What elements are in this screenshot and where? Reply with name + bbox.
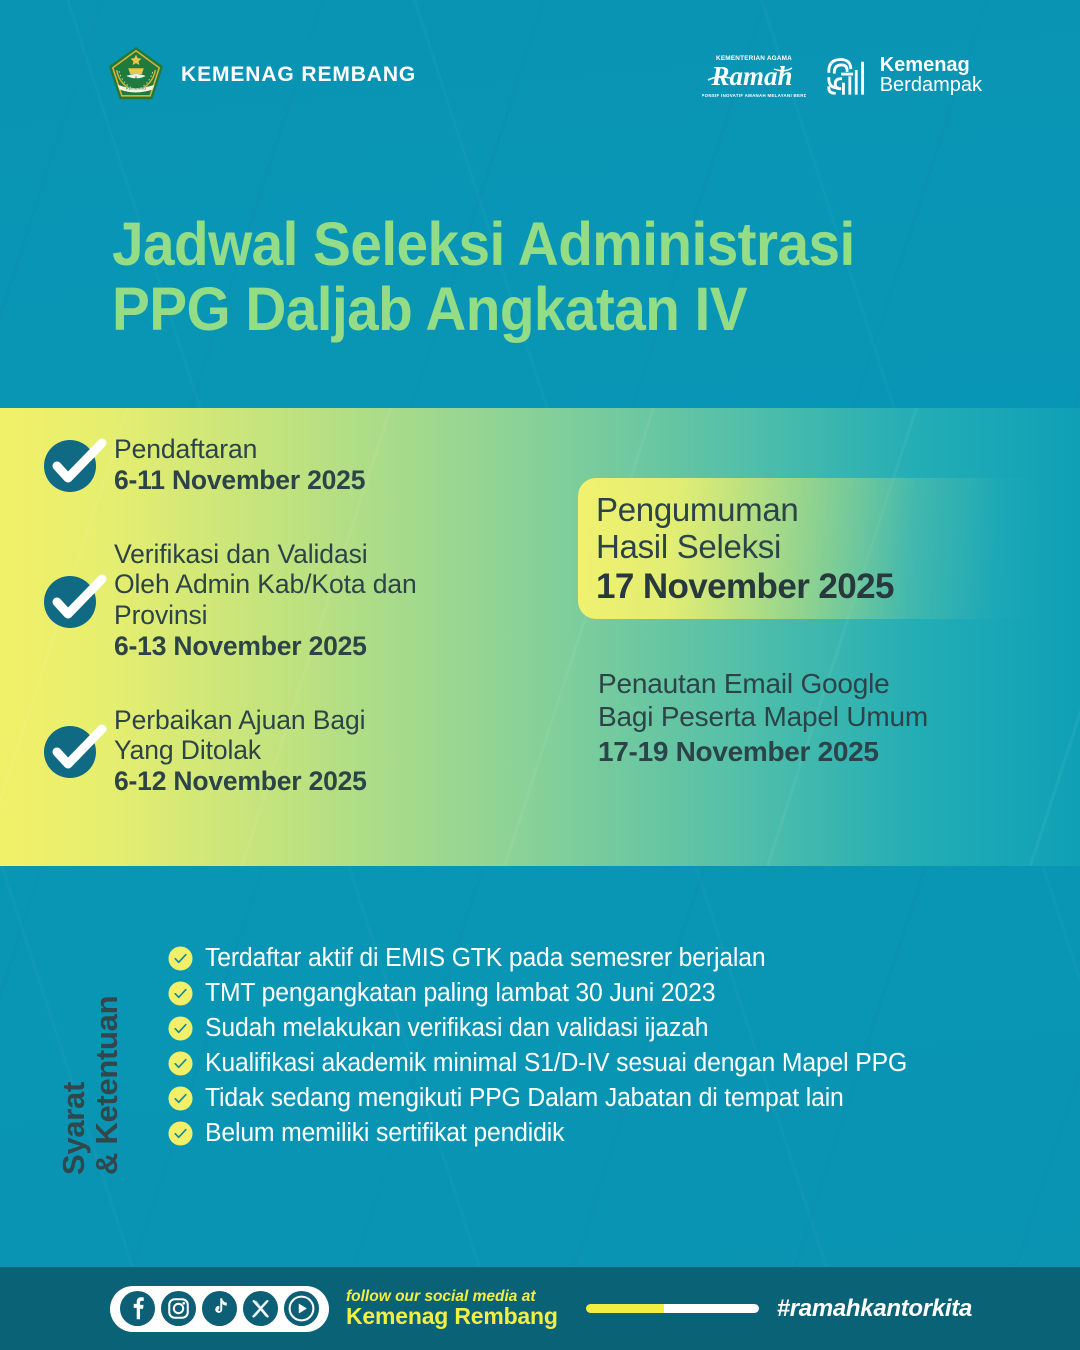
schedule-item: Perbaikan Ajuan Bagi Yang Ditolak 6-12 N… [44, 705, 564, 798]
secondary-info: Penautan Email Google Bagi Peserta Mapel… [578, 667, 1038, 769]
kemenag-berdampak-text: Kemenag Berdampak [880, 55, 982, 96]
svg-text:Ramah: Ramah [710, 61, 792, 91]
requirement-item: TMT pengangkatan paling lambat 30 Juni 2… [168, 979, 929, 1007]
schedule-item: Pendaftaran 6-11 November 2025 [44, 434, 564, 497]
check-circle-small-icon [168, 946, 193, 971]
check-circle-icon [44, 439, 96, 491]
schedule-item-text: Perbaikan Ajuan Bagi Yang Ditolak 6-12 N… [114, 705, 367, 798]
requirement-item: Terdaftar aktif di EMIS GTK pada semesre… [168, 944, 929, 972]
requirement-text: TMT pengangkatan paling lambat 30 Juni 2… [205, 979, 715, 1007]
schedule-item-date: 6-11 November 2025 [114, 465, 365, 497]
schedule-item-label: Pendaftaran [114, 434, 365, 465]
schedule-item-text: Pendaftaran 6-11 November 2025 [114, 434, 365, 497]
brand-right: KEMENTERIAN AGAMA Ramah RESPONSIF INOVAT… [702, 49, 982, 101]
requirement-item: Tidak sedang mengikuti PPG Dalam Jabatan… [168, 1084, 929, 1112]
requirement-text: Belum memiliki sertifikat pendidik [205, 1119, 564, 1147]
announcement-date: 17 November 2025 [596, 567, 1022, 607]
footer: follow our social media at Kemenag Remba… [0, 1267, 1080, 1350]
schedule-item-date: 6-12 November 2025 [114, 766, 367, 798]
requirement-item: Sudah melakukan verifikasi dan validasi … [168, 1014, 929, 1042]
schedule-item: Verifikasi dan Validasi Oleh Admin Kab/K… [44, 539, 564, 663]
check-circle-small-icon [168, 1051, 193, 1076]
poster-canvas: REMBANG KEMENAG REMBANG KEMENTERIAN AGAM… [0, 0, 1080, 1350]
check-circle-small-icon [168, 981, 193, 1006]
secondary-line-1: Penautan Email Google [598, 667, 1038, 700]
schedule-item-label: Perbaikan Ajuan Bagi Yang Ditolak [114, 705, 367, 766]
x-twitter-icon[interactable] [242, 1290, 279, 1327]
title-line-1: Jadwal Seleksi Administrasi [112, 212, 938, 277]
poster-title: Jadwal Seleksi Administrasi PPG Daljab A… [112, 212, 1000, 341]
check-circle-icon [44, 725, 96, 777]
header: REMBANG KEMENAG REMBANG KEMENTERIAN AGAM… [0, 0, 1080, 150]
tiktok-icon[interactable] [201, 1290, 238, 1327]
requirement-text: Kualifikasi akademik minimal S1/D-IV ses… [205, 1049, 907, 1077]
announcement-highlight-card: Pengumuman Hasil Seleksi 17 November 202… [578, 478, 1038, 619]
ramah-logo-icon: KEMENTERIAN AGAMA Ramah RESPONSIF INOVAT… [702, 49, 806, 101]
footer-hashtag: #ramahkantorkita [777, 1295, 972, 1323]
secondary-line-2: Bagi Peserta Mapel Umum [598, 700, 1038, 733]
requirement-item: Belum memiliki sertifikat pendidik [168, 1119, 929, 1147]
schedule-item-text: Verifikasi dan Validasi Oleh Admin Kab/K… [114, 539, 417, 663]
announcement-line-1: Pengumuman [596, 492, 1022, 529]
kemenag-berdampak-mark-icon [826, 54, 870, 96]
berdampak-line2: Berdampak [880, 75, 982, 95]
check-circle-small-icon [168, 1086, 193, 1111]
schedule-item-date: 6-13 November 2025 [114, 631, 417, 663]
requirements-list: Terdaftar aktif di EMIS GTK pada semesre… [168, 944, 929, 1154]
announcement-line-2: Hasil Seleksi [596, 529, 1022, 566]
requirement-text: Tidak sedang mengikuti PPG Dalam Jabatan… [205, 1084, 844, 1112]
follow-block: follow our social media at Kemenag Remba… [346, 1289, 558, 1328]
check-circle-small-icon [168, 1121, 193, 1146]
requirement-text: Sudah melakukan verifikasi dan validasi … [205, 1014, 708, 1042]
secondary-date: 17-19 November 2025 [598, 735, 1038, 769]
instagram-icon[interactable] [160, 1290, 197, 1327]
berdampak-line1: Kemenag [880, 55, 982, 75]
title-line-2: PPG Daljab Angkatan IV [112, 277, 938, 342]
facebook-icon[interactable] [119, 1290, 156, 1327]
youtube-icon[interactable] [283, 1290, 320, 1327]
requirement-text: Terdaftar aktif di EMIS GTK pada semesre… [205, 944, 766, 972]
schedule-item-label: Verifikasi dan Validasi Oleh Admin Kab/K… [114, 539, 417, 631]
follow-account: Kemenag Rembang [346, 1305, 558, 1328]
social-media-links [110, 1286, 329, 1332]
requirements-label-line1: Syarat [58, 996, 91, 1175]
brand-title: KEMENAG REMBANG [181, 63, 416, 87]
schedule-right-column: Pengumuman Hasil Seleksi 17 November 202… [578, 478, 1038, 769]
check-circle-small-icon [168, 1016, 193, 1041]
requirements-vertical-label: Syarat & Ketentuan [58, 996, 124, 1175]
brand-left: REMBANG KEMENAG REMBANG [105, 44, 416, 106]
kemenag-berdampak-lockup: Kemenag Berdampak [826, 54, 982, 96]
svg-text:REMBANG: REMBANG [126, 86, 146, 91]
footer-divider-rule [586, 1304, 759, 1313]
requirements-label-line2: & Ketentuan [91, 996, 124, 1175]
schedule-left-column: Pendaftaran 6-11 November 2025 Verifikas… [44, 434, 564, 840]
requirement-item: Kualifikasi akademik minimal S1/D-IV ses… [168, 1049, 929, 1077]
check-circle-icon [44, 575, 96, 627]
kemenag-crest-icon: REMBANG [105, 44, 167, 106]
svg-text:RESPONSIF INOVATIF AMANAH M: RESPONSIF INOVATIF AMANAH MELAYANI BERDA… [702, 93, 806, 98]
